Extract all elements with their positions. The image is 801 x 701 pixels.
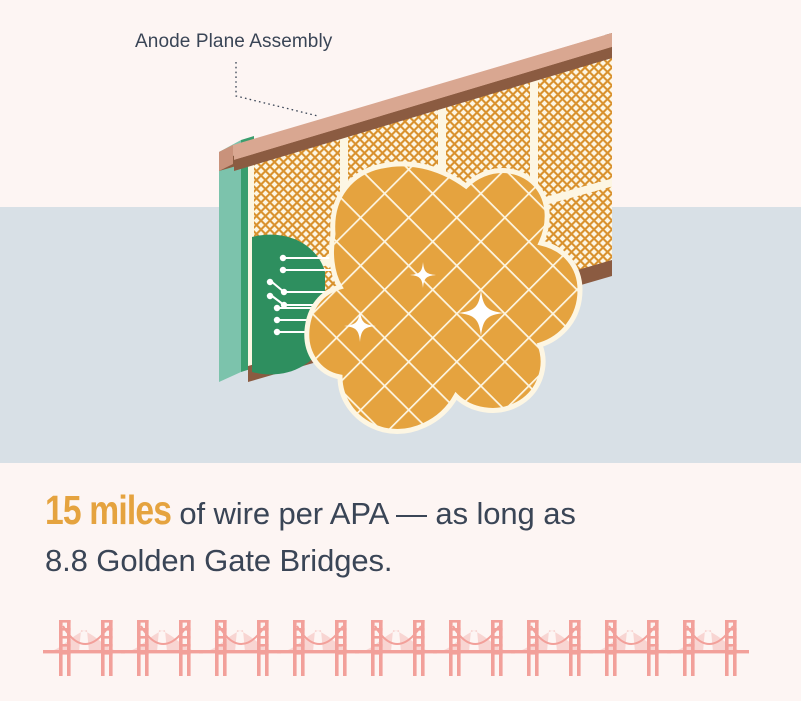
bridge-deck xyxy=(433,650,515,653)
post-side-face xyxy=(219,140,241,382)
headline-block: 15 miles of wire per APA — as long as 8.… xyxy=(45,487,775,584)
infographic-canvas: Anode Plane Assembly 15 miles of wire pe… xyxy=(0,0,801,701)
anode-plane-assembly-label: Anode Plane Assembly xyxy=(135,31,332,53)
bridge-deck xyxy=(199,650,281,653)
headline-line-2: 8.8 Golden Gate Bridges. xyxy=(45,537,775,584)
bridge-deck xyxy=(511,650,593,653)
headline-highlight: 15 miles xyxy=(45,487,171,534)
bridge-deck xyxy=(121,650,203,653)
headline-line-1-rest: of wire per APA — as long as xyxy=(171,496,576,531)
bridge-deck xyxy=(43,650,125,653)
infographic-artwork xyxy=(0,0,801,701)
bridge-deck xyxy=(589,650,671,653)
bridge-deck xyxy=(355,650,437,653)
headline-line-1: 15 miles of wire per APA — as long as xyxy=(45,487,775,537)
bridge-deck xyxy=(667,650,749,653)
bridge-deck xyxy=(277,650,359,653)
